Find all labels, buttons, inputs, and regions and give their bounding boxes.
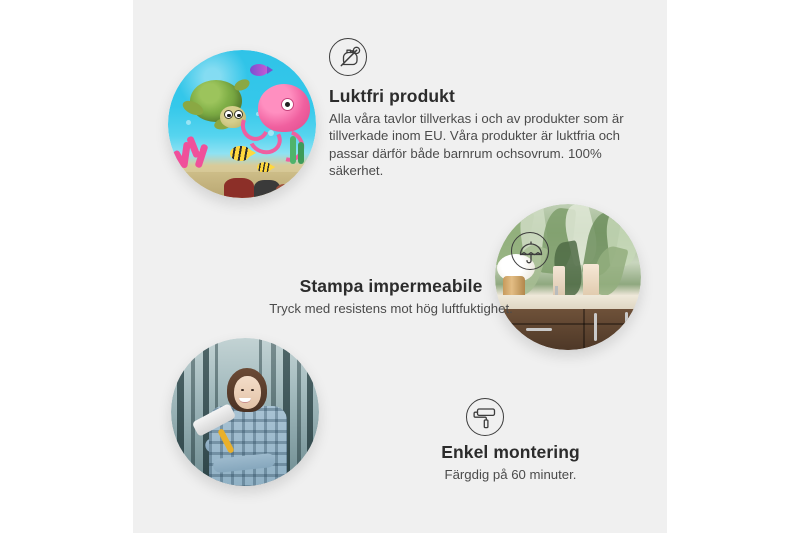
- forest-scene-art: [171, 338, 319, 486]
- feature-easy-mounting: Enkel montering Färgdig på 60 minuter.: [408, 398, 613, 483]
- underwater-scene-art: [168, 50, 316, 198]
- no-fragrance-icon: [329, 38, 367, 76]
- feature-description: Färgdig på 60 minuter.: [408, 466, 613, 483]
- feature-description: Alla våra tavlor tillverkas i och av pro…: [329, 110, 634, 180]
- product-feature-panel: Luktfri produkt Alla våra tavlor tillver…: [0, 0, 800, 533]
- installer-forest-photo: [171, 338, 319, 486]
- paint-roller-icon: [466, 398, 504, 436]
- feature-odour-free: Luktfri produkt Alla våra tavlor tillver…: [329, 38, 634, 180]
- woman-face: [234, 376, 261, 409]
- content-panel: Luktfri produkt Alla våra tavlor tillver…: [133, 0, 667, 533]
- underwater-cartoon-photo: [168, 50, 316, 198]
- feature-waterproof-print: Stampa impermeabile Tryck med resistens …: [221, 232, 561, 317]
- umbrella-icon: [511, 232, 549, 270]
- feature-title: Enkel montering: [408, 442, 613, 463]
- feature-description: Tryck med resistens mot hög luftfuktighe…: [221, 300, 561, 317]
- feature-title: Stampa impermeabile: [221, 276, 561, 297]
- feature-title: Luktfri produkt: [329, 86, 634, 107]
